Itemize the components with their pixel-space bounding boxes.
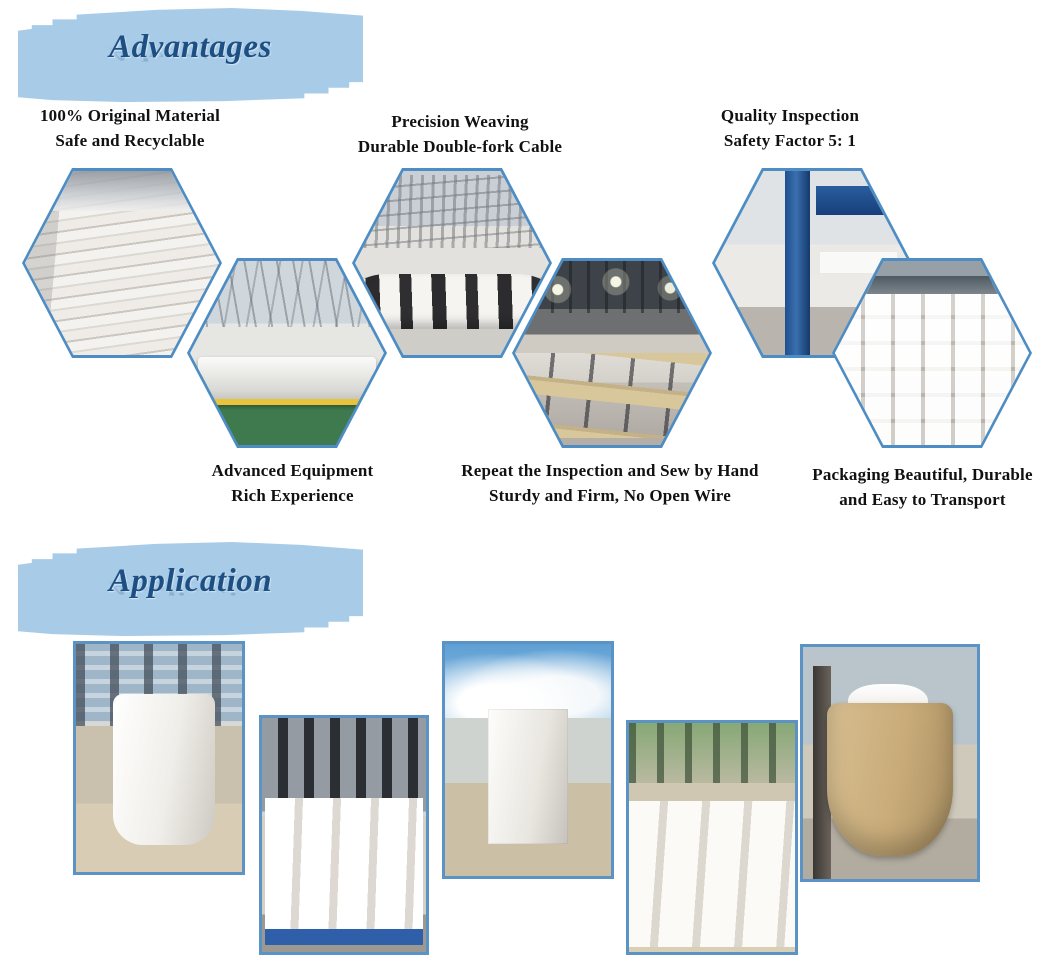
- application-photo-3: S: [442, 641, 614, 879]
- advantage-heading-2-line1: Precision Weaving: [330, 110, 590, 135]
- advantage-heading-1: 100% Original Material Safe and Recyclab…: [10, 104, 250, 153]
- advantage-heading-3: Quality Inspection Safety Factor 5: 1: [655, 104, 925, 153]
- advantage-heading-1-line2: Safe and Recyclable: [10, 129, 250, 154]
- photo-forklift-lifting-bulk-bag: [76, 644, 242, 872]
- photo-tan-circular-bulk-bag: [803, 647, 977, 879]
- advantage-heading-2-line2: Durable Double-fork Cable: [330, 135, 590, 160]
- advantage-heading-3-line2: Safety Factor 5: 1: [655, 129, 925, 154]
- application-photo-1: [73, 641, 245, 875]
- advantages-banner-title-reflection: Advantages: [18, 42, 363, 65]
- application-photo-2: [259, 715, 429, 955]
- photo-extrusion-line-equipment: [190, 261, 384, 445]
- advantage-heading-6: Packaging Beautiful, Durable and Easy to…: [795, 463, 1050, 512]
- advantage-heading-5-line2: Sturdy and Firm, No Open Wire: [440, 484, 780, 509]
- advantages-banner: Advantages Advantages: [18, 8, 363, 103]
- application-banner-title-reflection: Application: [18, 576, 363, 599]
- advantage-heading-5-line1: Repeat the Inspection and Sew by Hand: [440, 459, 780, 484]
- application-photo-4: [626, 720, 798, 955]
- photo-packed-bales-warehouse: [835, 261, 1029, 445]
- advantage-heading-3-line1: Quality Inspection: [655, 104, 925, 129]
- photo-palletized-bulk-bags: [262, 718, 426, 952]
- advantage-heading-5: Repeat the Inspection and Sew by Hand St…: [440, 459, 780, 508]
- photo-bulk-bag-red-s-label: S: [445, 644, 611, 876]
- advantage-heading-1-line1: 100% Original Material: [10, 104, 250, 129]
- advantage-hexagon-packaging: [832, 258, 1032, 448]
- photo-sand-filled-bags-yard: [629, 723, 795, 952]
- photo-sewing-workshop: [515, 261, 709, 445]
- application-banner: Application Application: [18, 542, 363, 637]
- advantage-hexagon-advanced-equipment: [187, 258, 387, 448]
- hexagon-photo-clip: [190, 261, 384, 445]
- bag-top-liner: [848, 684, 928, 726]
- advantage-heading-4: Advanced Equipment Rich Experience: [170, 459, 415, 508]
- advantage-heading-6-line1: Packaging Beautiful, Durable: [795, 463, 1050, 488]
- application-photo-5: [800, 644, 980, 882]
- bag-brand-label: S: [500, 755, 525, 781]
- advantage-heading-2: Precision Weaving Durable Double-fork Ca…: [330, 110, 590, 159]
- advantage-heading-4-line2: Rich Experience: [170, 484, 415, 509]
- hexagon-photo-clip: [515, 261, 709, 445]
- hexagon-photo-clip: [835, 261, 1029, 445]
- advantage-heading-6-line2: and Easy to Transport: [795, 488, 1050, 513]
- advantage-hexagon-sewing: [512, 258, 712, 448]
- advantage-heading-4-line1: Advanced Equipment: [170, 459, 415, 484]
